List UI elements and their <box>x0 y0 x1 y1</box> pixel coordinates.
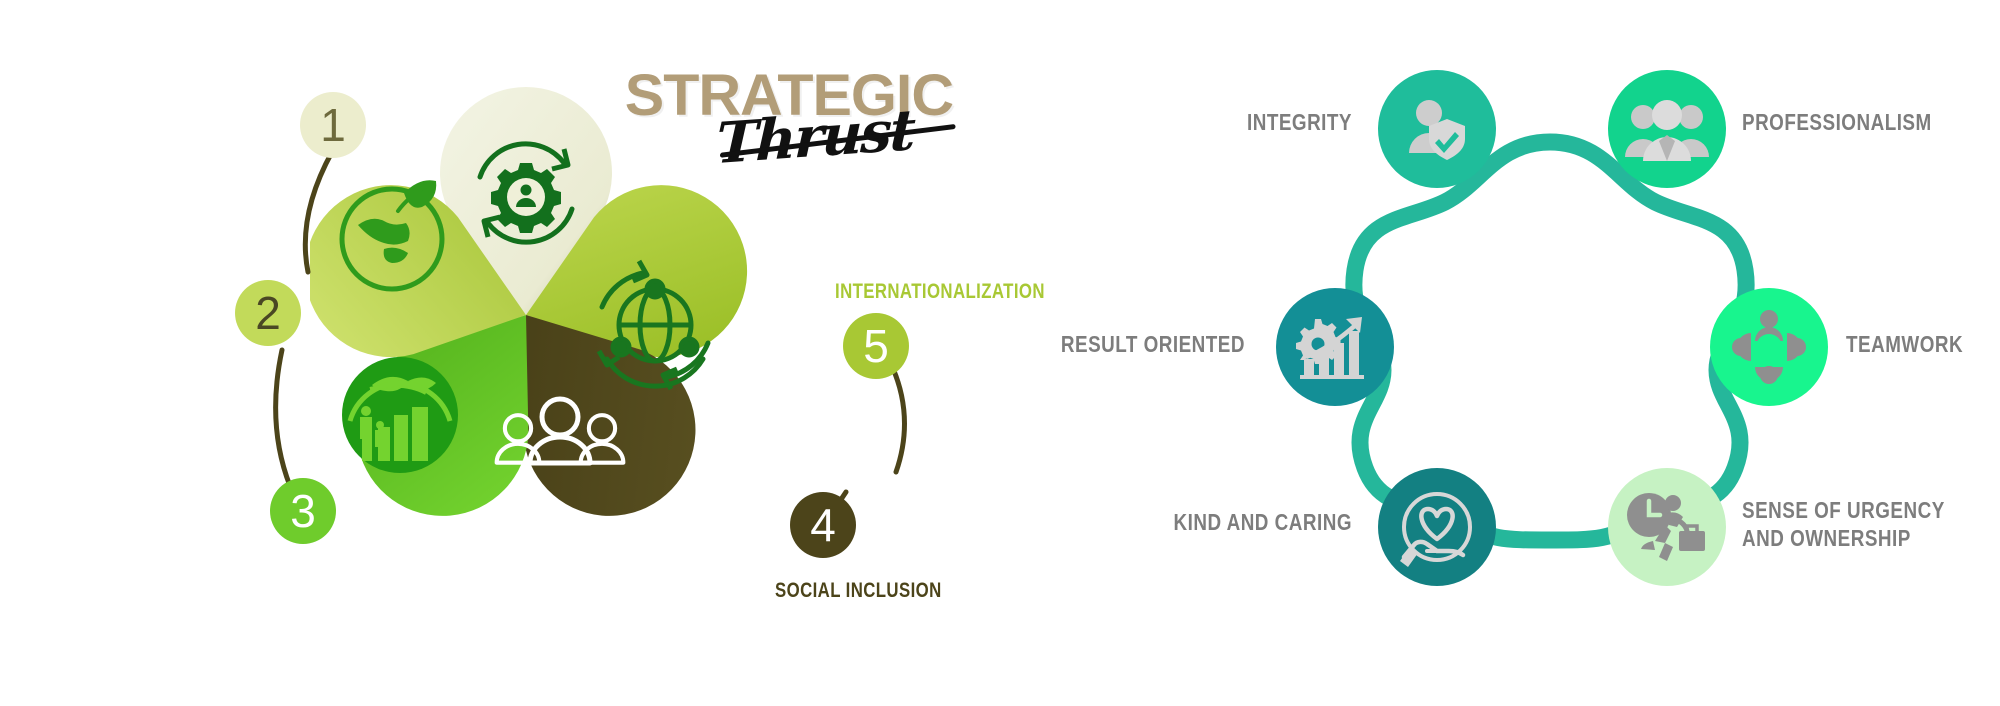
value-label-professionalism: PROFESSIONALISM <box>1742 108 2000 136</box>
badge-number-4[interactable]: 4 <box>790 492 856 558</box>
value-label-integrity: INTEGRITY <box>1090 108 1352 136</box>
badge-number-3[interactable]: 3 <box>270 478 336 544</box>
value-circle-kind-and-caring[interactable] <box>1378 468 1496 586</box>
team-group-icon <box>1625 91 1709 167</box>
badge-number-1[interactable]: 1 <box>300 92 366 158</box>
value-circle-teamwork[interactable] <box>1710 288 1828 406</box>
person-shield-icon <box>1399 91 1475 167</box>
value-circle-integrity[interactable] <box>1378 70 1496 188</box>
gear-bar-chart-arrow-icon <box>1296 311 1374 383</box>
clock-running-briefcase-icon <box>1625 489 1709 565</box>
infographic-canvas: STRATEGIC Thrust <box>0 0 2000 706</box>
strategic-thrust-panel: STRATEGIC Thrust <box>0 0 1000 706</box>
value-circle-professionalism[interactable] <box>1608 70 1726 188</box>
badge-number-5[interactable]: 5 <box>843 313 909 379</box>
value-circle-sense-of-urgency[interactable] <box>1608 468 1726 586</box>
value-label-teamwork: TEAMWORK <box>1846 330 2000 358</box>
hand-heart-icon <box>1396 487 1478 567</box>
value-circle-result-oriented[interactable] <box>1276 288 1394 406</box>
network-people-icon <box>1729 307 1809 387</box>
value-label-result-oriented: RESULT ORIENTED <box>966 330 1245 358</box>
thrust-label-social-inclusion: SOCIAL INCLUSION <box>775 579 942 604</box>
badge-number-2[interactable]: 2 <box>235 280 301 346</box>
value-label-sense-of-urgency: SENSE OF URGENCY AND OWNERSHIP <box>1742 496 2000 552</box>
value-label-kind-and-caring: KIND AND CARING <box>1081 508 1352 536</box>
shared-values-panel: 6 SHARED VALUES INTEGRITY <box>1000 0 2000 706</box>
